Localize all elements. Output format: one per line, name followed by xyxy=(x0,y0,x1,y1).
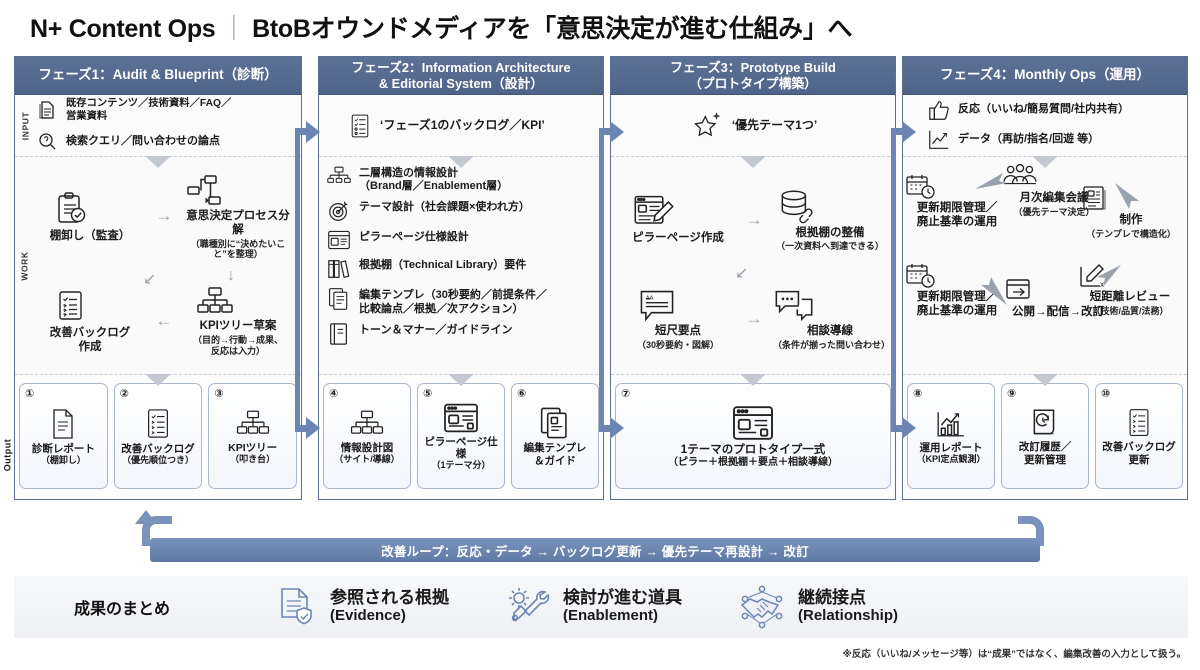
phase-3-panel[interactable]: フェーズ3：Prototype Build （プロトタイプ構築） ‘優先テーマ1… xyxy=(610,56,896,500)
design-list-item: ピラーページ仕様設計 xyxy=(327,229,597,251)
output-number: ③ xyxy=(214,387,223,400)
layout-icon xyxy=(730,404,776,442)
checklist-icon xyxy=(1124,407,1154,439)
phase-4-work-band: 月次編集会議 （優先テーマ決定） 制作 （テンプレで構造化） xyxy=(903,157,1187,375)
work-step: 意思決定プロセス分解 （職種別に“決めたいこと”を整理） xyxy=(183,173,293,259)
title-headline: BtoBオウンドメディアを「意思決定が進む仕組み」へ xyxy=(252,15,852,43)
publish-window-icon xyxy=(1003,277,1113,305)
title-separator: ｜ xyxy=(215,15,252,43)
page-title: N+ Content Ops｜BtoBオウンドメディアを「意思決定が進む仕組み」… xyxy=(30,10,1180,48)
summary-bar: 成果のまとめ 参照される根拠 (Evidence) 検討が進む道具 xyxy=(14,576,1188,638)
input-item-text: データ（再訪/指名/回遊 等） xyxy=(958,133,1099,147)
input-item: データ（再訪/指名/回遊 等） xyxy=(925,125,1181,155)
star-icon xyxy=(693,111,725,141)
output-number: ② xyxy=(120,387,129,400)
work-step: 相談導線 （条件が揃った問い合わせ） xyxy=(773,288,887,350)
design-list-text: 二層構造の情報設計 （Brand層／Enablement層） xyxy=(359,165,508,193)
connector-phase1-to-phase2 xyxy=(288,110,320,450)
phase-4-input-band: 反応（いいね/簡易質問/社内共有） データ（再訪/指名/回遊 等） xyxy=(903,95,1187,157)
phase-1-output-band: ① 診断レポート （棚卸し） ② xyxy=(15,375,301,499)
work-step: 改善バックログ 作成 xyxy=(50,286,131,355)
output-card[interactable]: ⑤ ピラーページ仕様 （1テーマ分） xyxy=(417,383,505,489)
phase-3-output-band: ⑦ 1テーマのプロトタイプ一式 （ピラー＋根拠棚＋要点＋相談導線） xyxy=(611,375,895,499)
checklist-icon xyxy=(347,112,373,140)
output-number: ④ xyxy=(329,387,338,400)
band-label-work: WORK xyxy=(17,157,33,374)
history-clock-icon xyxy=(1029,407,1061,439)
checklist-icon xyxy=(143,407,173,441)
work-step-sub: （条件が揃った問い合わせ） xyxy=(773,340,887,350)
summary-item-title: 継続接点 xyxy=(798,589,898,608)
work-step-sub: （職種別に“決めたいこと”を整理） xyxy=(183,239,293,260)
output-caption: 改善バックログ 更新 xyxy=(1102,441,1176,465)
input-item: 反応（いいね/簡易質問/社内共有） xyxy=(925,95,1181,125)
thumbs-up-icon xyxy=(927,98,951,122)
work-step-label: 根拠棚の整備 xyxy=(776,227,884,241)
cycle-step-label: 更新期限管理／ 廃止基準の運用 xyxy=(905,291,1009,319)
document-shield-icon xyxy=(274,585,318,629)
output-number: ① xyxy=(25,387,34,400)
arrow-diagonal-icon: ↙ xyxy=(735,263,748,283)
output-card[interactable]: ③ KPIツリー （叩き台） xyxy=(208,383,297,489)
arrow-left-icon: ← xyxy=(156,311,173,331)
phase-4-header: フェーズ4：Monthly Ops（運用） xyxy=(903,57,1187,95)
work-step: KPIツリー草案 （目的→行動→成果、 反応は入力） xyxy=(193,285,283,355)
arrow-right-icon: → xyxy=(746,210,763,230)
output-card[interactable]: ⑥ 編集テンプレ ＆ガイド xyxy=(511,383,599,489)
phase-4-panel[interactable]: フェーズ4：Monthly Ops（運用） 反応（いいね/簡易質問/社内共有） xyxy=(902,56,1188,500)
calendar-clock-icon xyxy=(905,173,1009,201)
input-item-text: 検索クエリ／問い合わせの論点 xyxy=(66,135,220,149)
template-doc-icon xyxy=(327,287,351,311)
output-caption: 改善バックログ xyxy=(121,443,195,455)
line-chart-icon xyxy=(927,128,951,152)
search-query-icon xyxy=(35,130,59,154)
output-subcaption: （1テーマ分） xyxy=(431,460,490,470)
report-doc-icon xyxy=(48,407,78,441)
sitemap-icon xyxy=(347,408,387,440)
summary-item-subtitle: (Relationship) xyxy=(798,608,898,625)
bar-chart-icon xyxy=(935,408,967,440)
work-step-label: ピラーページ作成 xyxy=(632,232,724,246)
arrow-right-icon: → xyxy=(746,309,763,329)
summary-item: 継続接点 (Relationship) xyxy=(738,585,898,629)
phase-3-header: フェーズ3：Prototype Build （プロトタイプ構築） xyxy=(611,57,895,95)
output-subcaption: （サイト/導線） xyxy=(334,454,400,464)
band-label-input: INPUT xyxy=(17,95,33,156)
output-caption: ピラーページ仕様 xyxy=(420,436,502,460)
phase-1-input-band: INPUT 既存コンテンツ／技術資料／FAQ／ 営業資料 xyxy=(15,95,301,157)
work-step: AA 短尺要点 （30秒要約・図解） xyxy=(637,288,719,350)
input-item: 検索クエリ／問い合わせの論点 xyxy=(33,127,295,157)
summary-item-subtitle: (Enablement) xyxy=(563,608,682,625)
phase-4-output-band: ⑧ 運用レポート （KPI定点観測） ⑨ xyxy=(903,375,1187,499)
phase-2-output-band: ④ 情報設計図 （サイト/導線） ⑤ xyxy=(319,375,603,499)
output-card[interactable]: ⑩ 改善バックログ 更新 xyxy=(1095,383,1183,489)
summary-item: 検討が進む道具 (Enablement) xyxy=(505,585,682,629)
design-list-item: 編集テンプレ（30秒要約／前提条件／ 比較論点／根拠／次アクション） xyxy=(327,287,597,315)
summary-title: 成果のまとめ xyxy=(74,595,264,619)
design-list-item: 根拠棚（Technical Library）要件 xyxy=(327,257,597,281)
cycle-step: 公開→配信→改訂 xyxy=(1003,277,1113,320)
output-caption: 改訂履歴／ 更新管理 xyxy=(1019,441,1072,465)
work-step-sub: （30秒要約・図解） xyxy=(637,340,719,350)
phase-1-header: フェーズ1：Audit & Blueprint（診断） xyxy=(15,57,301,95)
phase-2-input-band: ‘フェーズ1のバックログ／KPI’ xyxy=(319,95,603,157)
page-edit-icon xyxy=(632,193,724,231)
design-list-text: ピラーページ仕様設計 xyxy=(359,229,469,244)
output-card[interactable]: ⑦ 1テーマのプロトタイプ一式 （ピラー＋根拠棚＋要点＋相談導線） xyxy=(615,383,891,489)
design-list-text: テーマ設計（社会課題×使われ方） xyxy=(359,199,530,214)
output-caption: 運用レポート xyxy=(920,442,983,454)
output-number: ⑦ xyxy=(621,387,630,400)
target-icon xyxy=(327,199,351,223)
library-books-icon xyxy=(327,257,351,281)
summary-item-title: 参照される根拠 xyxy=(330,589,449,608)
connector-phase3-to-phase4 xyxy=(884,110,914,450)
summary-item-subtitle: (Evidence) xyxy=(330,608,449,625)
cycle-step: 更新期限管理／ 廃止基準の運用 xyxy=(905,262,1009,319)
cycle-step: 更新期限管理／ 廃止基準の運用 xyxy=(905,173,1009,230)
checklist-icon xyxy=(50,286,131,326)
phase-2-header: フェーズ2：Information Architecture & Editori… xyxy=(319,57,603,95)
kpi-tree-icon xyxy=(233,408,273,440)
design-list-item: テーマ設計（社会課題×使われ方） xyxy=(327,199,597,223)
output-subcaption: （叩き台） xyxy=(230,454,275,464)
work-step-sub: （一次資料へ到達できる） xyxy=(776,241,884,251)
design-list-item: トーン＆マナー／ガイドライン xyxy=(327,322,597,346)
work-step-label: 相談導線 xyxy=(773,325,887,339)
template-doc-icon xyxy=(538,406,572,440)
phase-3-work-band: ピラーページ作成 → 根拠棚の整備 （一次資料へ到達できる） xyxy=(611,157,895,375)
phase-2-panel[interactable]: フェーズ2：Information Architecture & Editori… xyxy=(318,56,604,500)
output-caption: 1テーマのプロトタイプ一式 xyxy=(681,444,825,457)
output-number: ⑩ xyxy=(1101,387,1110,400)
output-subcaption: （KPI定点観測） xyxy=(916,454,985,464)
cycle-step-sub: （テンプレで構造化） xyxy=(1081,229,1181,239)
phase-2-work-band: 二層構造の情報設計 （Brand層／Enablement層） テーマ設計（社会課… xyxy=(319,157,603,375)
work-step: 棚卸し（監査） xyxy=(50,189,131,244)
band-label-output: Output xyxy=(0,400,14,510)
cycle-step-label: 更新期限管理／ 廃止基準の運用 xyxy=(905,202,1009,230)
output-number: ⑧ xyxy=(913,387,922,400)
work-step-label: 意思決定プロセス分解 xyxy=(183,210,293,238)
input-item-text: ‘フェーズ1のバックログ／KPI’ xyxy=(380,118,545,133)
work-step: 根拠棚の整備 （一次資料へ到達できる） xyxy=(776,188,884,252)
layout-icon xyxy=(442,402,480,434)
input-item: ‘優先テーマ1つ’ xyxy=(691,108,819,144)
output-card[interactable]: ② 改善バックログ （優先順位つき） xyxy=(114,383,203,489)
output-number: ⑥ xyxy=(517,387,526,400)
documents-icon xyxy=(35,99,59,123)
input-item: ‘フェーズ1のバックログ／KPI’ xyxy=(345,109,547,143)
work-step-label: 棚卸し（監査） xyxy=(50,230,131,244)
cycle-step: 制作 （テンプレで構造化） xyxy=(1081,185,1181,239)
footnote: ※反応（いいね/メッセージ等）は“成果”ではなく、編集改善の入力として扱う。 xyxy=(843,646,1186,660)
output-number: ⑨ xyxy=(1007,387,1016,400)
summary-item: 参照される根拠 (Evidence) xyxy=(274,585,449,629)
phase-1-work-band: WORK 棚卸し（監査） → xyxy=(15,157,301,375)
output-caption: KPIツリー xyxy=(228,442,277,454)
phase-1-panel[interactable]: フェーズ1：Audit & Blueprint（診断） INPUT 既存コンテン… xyxy=(14,56,302,500)
calendar-clock-icon xyxy=(905,262,1009,290)
database-link-icon xyxy=(776,188,884,226)
output-caption: 診断レポート xyxy=(32,443,95,455)
loop-bar-label: 改善ループ：反応・データ → バックログ更新 → 優先テーマ再設計 → 改訂 xyxy=(150,538,1040,562)
arrow-down-icon: ↓ xyxy=(227,267,235,285)
design-list-text: 根拠棚（Technical Library）要件 xyxy=(359,257,526,272)
design-list-text: トーン＆マナー／ガイドライン xyxy=(359,322,512,337)
output-card[interactable]: ⑨ 改訂履歴／ 更新管理 xyxy=(1001,383,1089,489)
title-brand: N+ Content Ops xyxy=(30,15,215,43)
design-list-text: 編集テンプレ（30秒要約／前提条件／ 比較論点／根拠／次アクション） xyxy=(359,287,547,315)
design-list-item: 二層構造の情報設計 （Brand層／Enablement層） xyxy=(327,165,597,193)
output-caption: 編集テンプレ ＆ガイド xyxy=(524,442,587,466)
process-tree-icon xyxy=(183,173,293,209)
chat-bubbles-icon xyxy=(773,288,887,324)
work-step-label: 改善バックログ 作成 xyxy=(50,327,131,355)
feedback-loop: 改善ループ：反応・データ → バックログ更新 → 優先テーマ再設計 → 改訂 xyxy=(150,516,1040,562)
phase-3-input-band: ‘優先テーマ1つ’ xyxy=(611,95,895,157)
svg-text:AA: AA xyxy=(646,296,654,302)
work-step-sub: （目的→行動→成果、 反応は入力） xyxy=(193,335,283,356)
input-item-text: 反応（いいね/簡易質問/社内共有） xyxy=(958,103,1129,117)
handshake-icon xyxy=(738,585,786,629)
work-step: ピラーページ作成 xyxy=(632,193,724,246)
arrow-right-icon: → xyxy=(156,206,173,226)
output-caption: 情報設計図 xyxy=(341,442,394,454)
work-step-label: 短尺要点 xyxy=(637,325,719,339)
layout-icon xyxy=(327,229,351,251)
output-subcaption: （ピラー＋根拠棚＋要点＋相談導線） xyxy=(668,457,838,469)
work-step-label: KPIツリー草案 xyxy=(193,320,283,334)
output-card[interactable]: ① 診断レポート （棚卸し） xyxy=(19,383,108,489)
summary-item-title: 検討が進む道具 xyxy=(563,589,682,608)
sitemap-icon xyxy=(327,165,351,187)
input-item-text: 既存コンテンツ／技術資料／FAQ／ 営業資料 xyxy=(66,98,231,124)
cycle-step-label: 公開→配信→改訂 xyxy=(1003,306,1113,320)
output-card[interactable]: ⑧ 運用レポート （KPI定点観測） xyxy=(907,383,995,489)
clipboard-check-icon xyxy=(50,189,131,229)
input-item: 既存コンテンツ／技術資料／FAQ／ 営業資料 xyxy=(33,95,295,127)
news-doc-icon xyxy=(1081,185,1181,213)
gear-wrench-icon xyxy=(505,585,551,629)
input-item-text: ‘優先テーマ1つ’ xyxy=(732,118,817,133)
summary-card-icon: AA xyxy=(637,288,719,324)
output-subcaption: （棚卸し） xyxy=(41,455,86,465)
cycle-step-label: 制作 xyxy=(1081,214,1181,228)
connector-phase2-to-phase3 xyxy=(592,110,622,450)
arrow-diagonal-icon: ↙ xyxy=(143,269,156,289)
output-card[interactable]: ④ 情報設計図 （サイト/導線） xyxy=(323,383,411,489)
output-subcaption: （優先順位つき） xyxy=(122,455,194,465)
kpi-tree-icon xyxy=(193,285,283,319)
guideline-doc-icon xyxy=(327,322,351,346)
output-number: ⑤ xyxy=(423,387,432,400)
